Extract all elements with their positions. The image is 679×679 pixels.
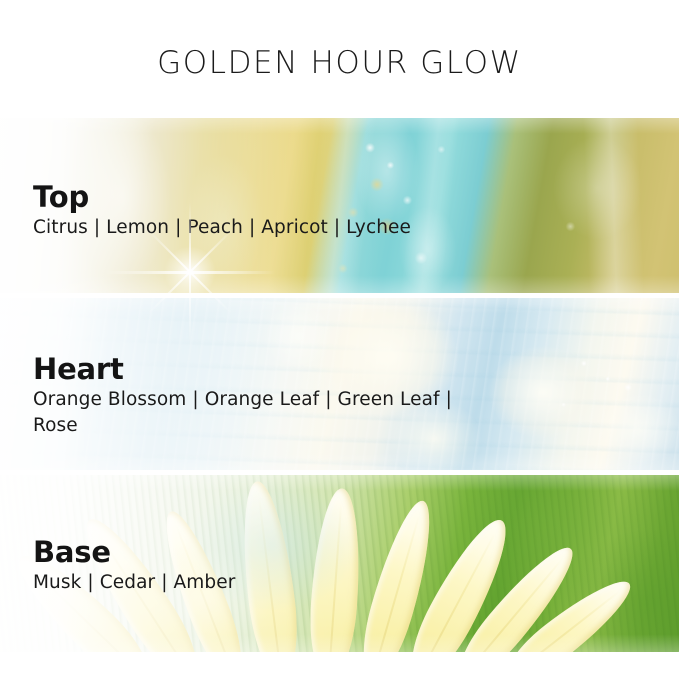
top-band-text-block: Top Citrus | Lemon | Peach | Apricot | L… (33, 182, 411, 241)
heart-band-text-block: Heart Orange Blossom | Orange Leaf | Gre… (33, 354, 453, 439)
page-title: GOLDEN HOUR GLOW (0, 48, 679, 79)
base-band-heading: Base (33, 537, 235, 567)
heart-band-notes: Orange Blossom | Orange Leaf | Green Lea… (33, 387, 453, 439)
base-band-text-block: Base Musk | Cedar | Amber (33, 537, 235, 596)
note-band-top: Top Citrus | Lemon | Peach | Apricot | L… (0, 118, 679, 293)
note-band-base: Base Musk | Cedar | Amber (0, 475, 679, 652)
top-band-heading: Top (33, 182, 411, 212)
base-band-notes: Musk | Cedar | Amber (33, 570, 235, 596)
note-band-heart: Heart Orange Blossom | Orange Leaf | Gre… (0, 298, 679, 470)
heart-band-heading: Heart (33, 354, 453, 384)
fragrance-pyramid-page: GOLDEN HOUR GLOW Top Citrus | Lemon | Pe… (0, 0, 679, 679)
